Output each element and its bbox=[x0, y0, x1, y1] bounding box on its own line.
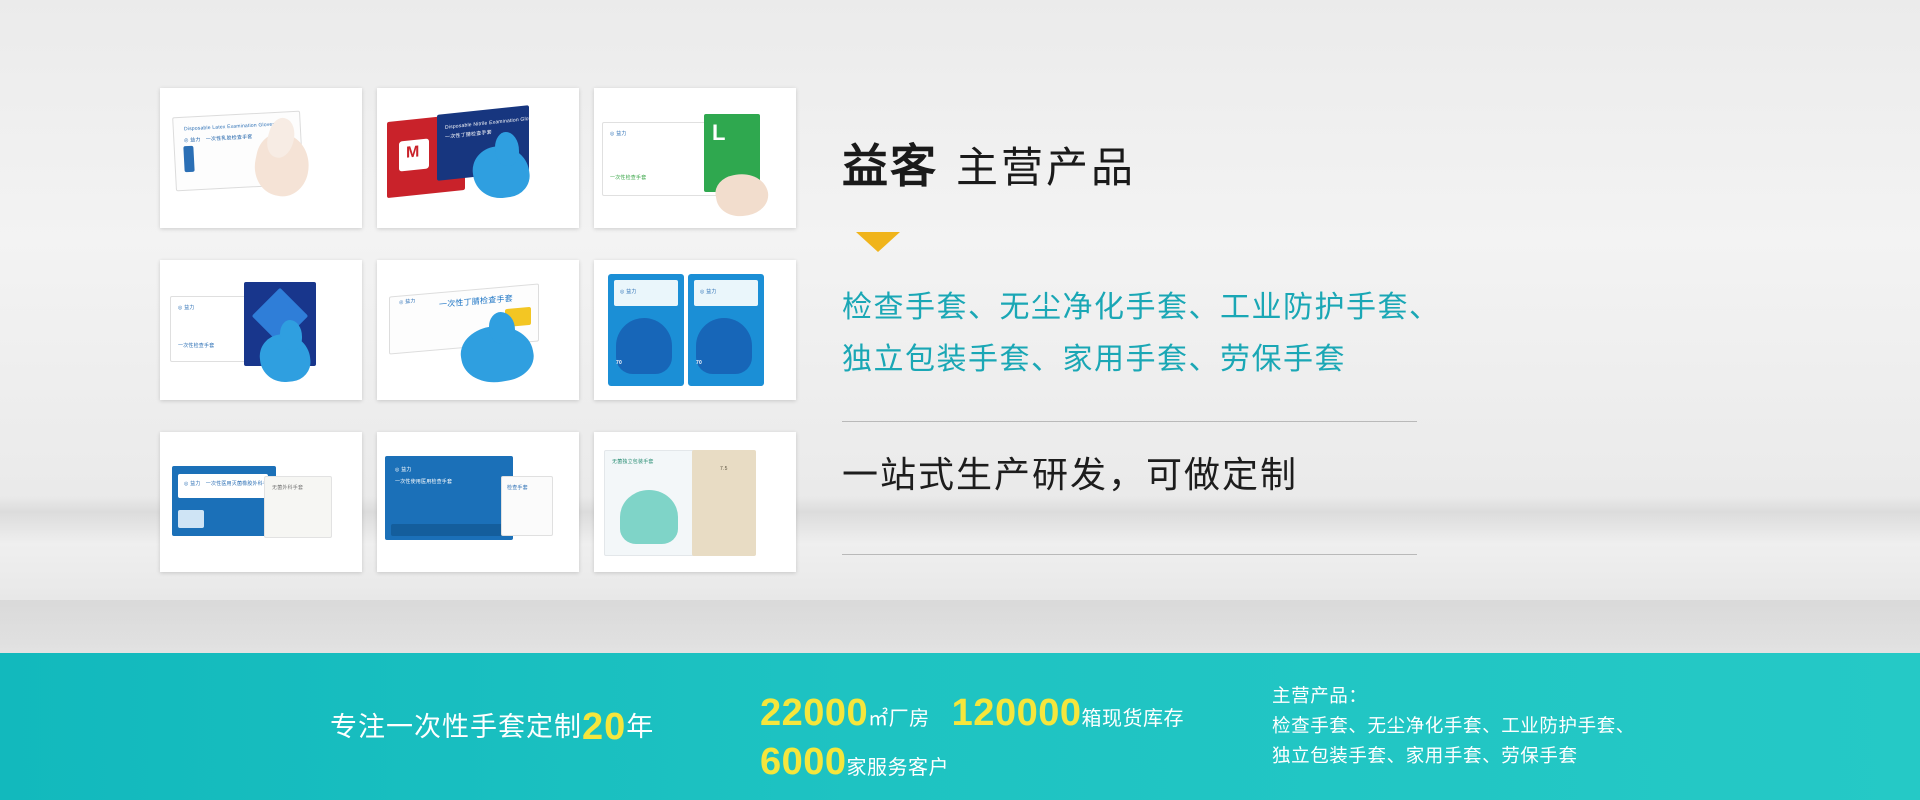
product-gallery: Disposable Latex Examination Gloves ◎ 益力… bbox=[160, 88, 811, 572]
product-image-8[interactable]: ◎ 益力 一次性使用医用检查手套 检查手套 bbox=[377, 432, 579, 572]
stats-line-1: 22000㎡厂房120000箱现货库存 bbox=[760, 689, 1250, 738]
product-line-1: 检查手套、无尘净化手套、工业防护手套、 bbox=[842, 282, 1662, 334]
slogan-text: 一站式生产研发，可做定制 bbox=[842, 422, 1417, 518]
brand-name: 益客 bbox=[842, 130, 938, 196]
stat-unit-1: 箱现货库存 bbox=[1081, 708, 1184, 730]
stats-line-2: 6000家服务客户 bbox=[760, 738, 1250, 787]
triangle-down-icon bbox=[856, 232, 900, 252]
product-image-7[interactable]: ◎ 益力 一次性医用灭菌橡胶外科手套 无菌外科手套 bbox=[160, 432, 362, 572]
promo-banner: Disposable Latex Examination Gloves ◎ 益力… bbox=[0, 0, 1920, 800]
bottom-product-title: 主营产品： bbox=[1272, 681, 1635, 711]
bottom-product-line-1: 检查手套、无尘净化手套、工业防护手套、 bbox=[1272, 711, 1635, 741]
bottom-product-list: 主营产品： 检查手套、无尘净化手套、工业防护手套、 独立包装手套、家用手套、劳保… bbox=[1272, 681, 1635, 771]
product-image-2[interactable]: Disposable Nitrile Examination Gloves 一次… bbox=[377, 88, 579, 228]
banner-copy: 益客 主营产品 检查手套、无尘净化手套、工业防护手套、 独立包装手套、家用手套、… bbox=[842, 130, 1662, 555]
product-image-9[interactable]: 无菌独立包装手套 7.5 bbox=[594, 432, 796, 572]
stat-value-0: 22000 bbox=[760, 692, 868, 734]
divider-bottom bbox=[842, 554, 1417, 555]
stat-value-1: 120000 bbox=[952, 692, 1082, 734]
product-line-2: 独立包装手套、家用手套、劳保手套 bbox=[842, 334, 1662, 386]
stat-unit-0: ㎡厂房 bbox=[868, 708, 930, 730]
title-row: 益客 主营产品 bbox=[842, 130, 1662, 196]
product-image-6[interactable]: ◎ 益力 ◎ 益力 70 70 bbox=[594, 260, 796, 400]
stat-value-2: 6000 bbox=[760, 741, 847, 783]
bottom-info-bar: 专注一次性手套定制20年 22000㎡厂房120000箱现货库存 6000家服务… bbox=[0, 653, 1920, 800]
product-image-4[interactable]: ◎ 益力 一次性检查手套 bbox=[160, 260, 362, 400]
focus-number: 20 bbox=[582, 706, 626, 748]
product-image-3[interactable]: ◎ 益力 一次性检查手套 L bbox=[594, 88, 796, 228]
focus-years-text: 专注一次性手套定制20年 bbox=[330, 705, 654, 749]
floor-shadow bbox=[0, 600, 1920, 655]
product-category-list: 检查手套、无尘净化手套、工业防护手套、 独立包装手套、家用手套、劳保手套 bbox=[842, 282, 1662, 385]
bottom-product-line-2: 独立包装手套、家用手套、劳保手套 bbox=[1272, 741, 1635, 771]
product-image-1[interactable]: Disposable Latex Examination Gloves ◎ 益力… bbox=[160, 88, 362, 228]
focus-prefix: 专注一次性手套定制 bbox=[330, 712, 582, 742]
stats-group: 22000㎡厂房120000箱现货库存 6000家服务客户 bbox=[760, 689, 1250, 786]
stat-unit-2: 家服务客户 bbox=[847, 757, 950, 779]
focus-suffix: 年 bbox=[626, 712, 654, 742]
page-title: 主营产品 bbox=[956, 134, 1136, 195]
product-image-5[interactable]: ◎ 益力 一次性丁腈检查手套 bbox=[377, 260, 579, 400]
